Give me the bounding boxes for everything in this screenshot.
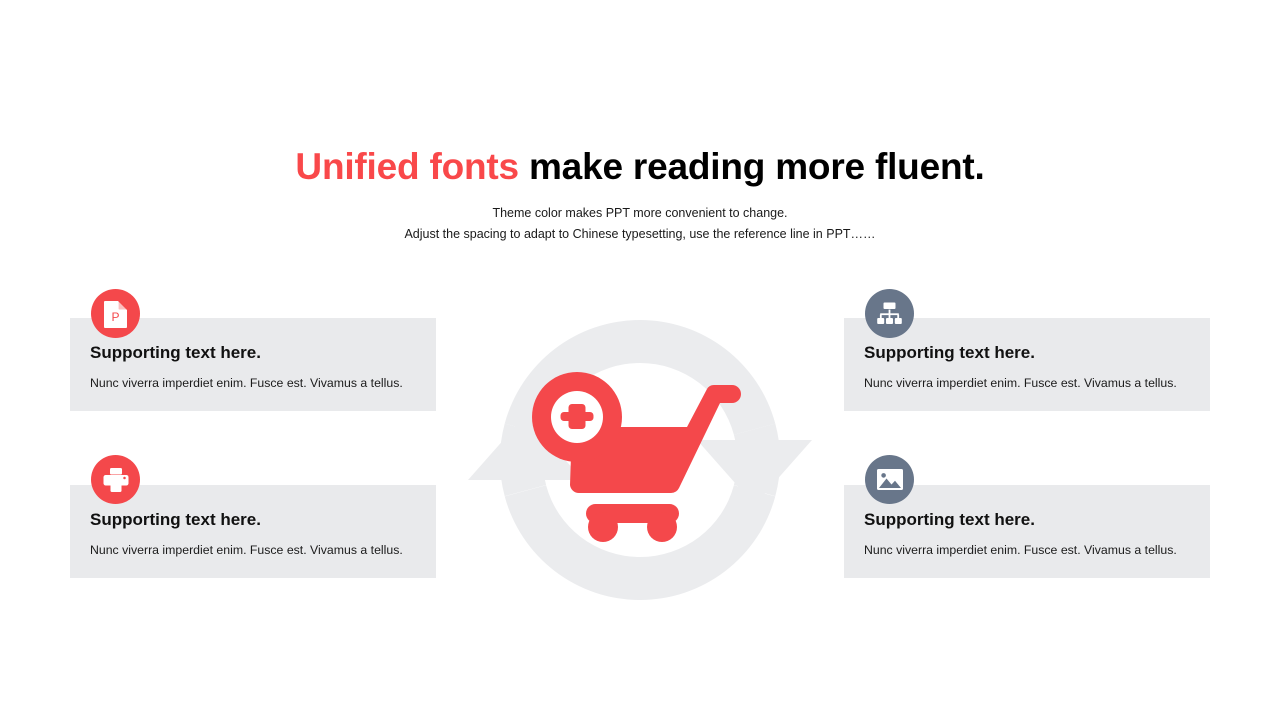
shopping-cart-add-icon (532, 372, 741, 542)
page-subtitle: Theme color makes PPT more convenient to… (0, 203, 1280, 247)
ppt-file-icon: P (103, 300, 129, 328)
svg-text:P: P (111, 310, 119, 324)
page-title: Unified fonts make reading more fluent. (0, 146, 1280, 189)
card-description: Nunc viverra imperdiet enim. Fusce est. … (864, 376, 1177, 390)
shopping-cart-cycle-graphic (455, 305, 825, 625)
page-title-rest: make reading more fluent. (519, 146, 985, 187)
card-title: Supporting text here. (90, 343, 261, 363)
card-title: Supporting text here. (90, 510, 261, 530)
card-title: Supporting text here. (864, 343, 1035, 363)
cycle-arrows-and-cart (455, 305, 825, 625)
card-description: Nunc viverra imperdiet enim. Fusce est. … (90, 543, 403, 557)
subtitle-line-2: Adjust the spacing to adapt to Chinese t… (0, 224, 1280, 246)
page-title-accent: Unified fonts (295, 146, 518, 187)
org-chart-icon (876, 301, 903, 326)
subtitle-line-1: Theme color makes PPT more convenient to… (0, 203, 1280, 225)
org-chart-icon-badge[interactable] (865, 289, 914, 338)
image-placeholder-icon-badge[interactable] (865, 455, 914, 504)
card-title: Supporting text here. (864, 510, 1035, 530)
printer-icon-badge[interactable] (91, 455, 140, 504)
image-placeholder-icon (876, 468, 904, 491)
ppt-file-icon-badge[interactable]: P (91, 289, 140, 338)
card-description: Nunc viverra imperdiet enim. Fusce est. … (864, 543, 1177, 557)
slide-header: Unified fonts make reading more fluent. … (0, 146, 1280, 246)
card-description: Nunc viverra imperdiet enim. Fusce est. … (90, 376, 403, 390)
printer-icon (102, 467, 130, 493)
